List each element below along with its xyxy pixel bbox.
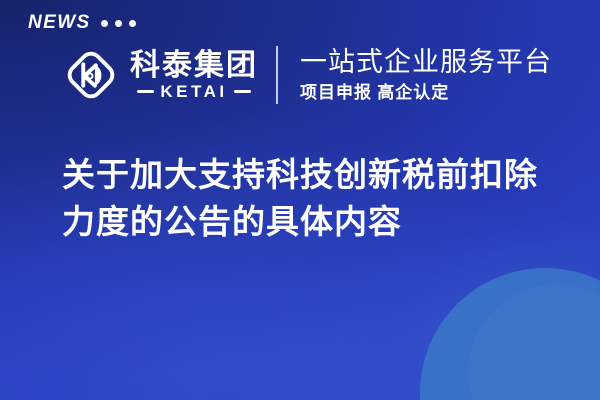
tagline-main: 一站式企业服务平台 xyxy=(300,47,552,78)
kicker-dot xyxy=(129,20,136,27)
news-kicker-label: NEWS xyxy=(28,13,91,32)
headline-text: 关于加大支持科技创新税前扣除力度的公告的具体内容 xyxy=(62,152,562,246)
tagline-sub: 项目申报 高企认定 xyxy=(300,83,552,103)
kicker-dot xyxy=(115,20,122,27)
brand-rule-right xyxy=(234,90,251,93)
news-banner: NEWS 科泰集团 K xyxy=(0,0,600,400)
kicker-dots-icon xyxy=(101,19,136,27)
tagline-block: 一站式企业服务平台 项目申报 高企认定 xyxy=(300,47,552,103)
brand-divider xyxy=(276,46,278,104)
brand-name-cn: 科泰集团 xyxy=(130,50,258,82)
kicker-dot xyxy=(101,20,108,27)
brand-name-block: 科泰集团 KETAI xyxy=(130,50,258,100)
news-kicker: NEWS xyxy=(28,13,136,32)
brand-name-en: KETAI xyxy=(160,83,227,100)
brand-lockup: 科泰集团 KETAI 一站式企业服务平台 项目申报 高企认定 xyxy=(60,44,552,106)
brand-rule-left xyxy=(137,90,154,93)
brand-name-en-row: KETAI xyxy=(130,83,258,100)
ketai-diamond-monogram-icon xyxy=(60,44,122,106)
